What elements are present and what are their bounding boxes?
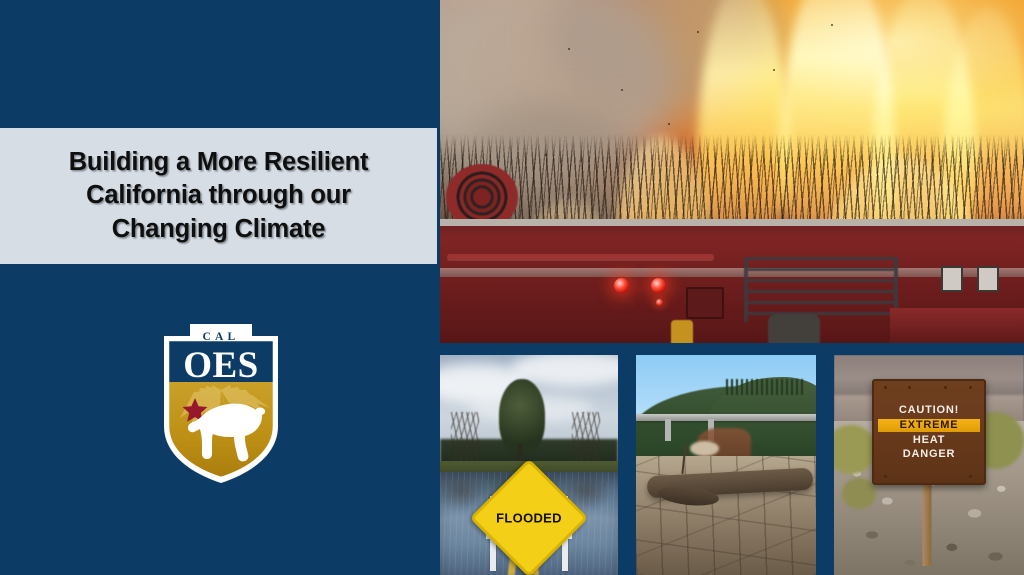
sign-line-heat: HEAT [913,435,945,446]
engine-ladder [744,257,898,322]
flood-photo: FLOODED [440,355,618,575]
title-banner: Building a More ResilientCalifornia thro… [0,128,437,264]
sign-bolt [944,386,947,389]
heat-danger-sign: CAUTION! EXTREME HEAT DANGER [872,379,986,485]
engine-rail [447,254,714,260]
sign-bolt [969,386,972,389]
dry-patch [690,441,719,456]
logo-oes-text: OES [183,345,259,386]
sign-line-caution: CAUTION! [899,405,959,416]
engine-stripe [440,268,1024,277]
road-barricade: FLOODED [486,496,571,571]
title-line-1: Building a More Resilient [69,148,369,176]
logo-cal-text: CAL [203,331,240,343]
bridge [636,414,816,421]
drought-photo [636,355,816,575]
engine-cab [890,308,1024,343]
engine-warning-light [614,278,629,293]
left-navy-panel: Building a More ResilientCalifornia thro… [0,0,440,575]
engine-valve [768,314,820,343]
wildfire-photo [440,0,1024,343]
sign-line-danger: DANGER [903,449,955,460]
sign-bolt [908,386,911,389]
sign-bolt [969,475,972,478]
bare-tree [451,412,479,460]
desert-brush [842,478,876,509]
sign-bolt [884,386,887,389]
bridge-pier [665,419,671,441]
sign-line-extreme: EXTREME [878,419,979,432]
presentation-slide: FLOODED [0,0,1024,575]
engine-equipment [671,320,693,343]
sign-bolt [884,475,887,478]
bare-tree [572,412,600,460]
cal-oes-shield-icon: CAL OES [160,322,282,484]
ridge-trees [726,379,805,394]
extreme-heat-photo: CAUTION! EXTREME HEAT DANGER [834,355,1024,575]
ember-spark [697,31,699,33]
flooded-sign-label: FLOODED [496,511,562,526]
fire-engine [440,219,1024,343]
page-title: Building a More ResilientCalifornia thro… [51,146,387,245]
title-line-2: California through our [86,181,351,209]
engine-warning-light [651,278,666,293]
engine-window [941,266,963,292]
ember-spark [773,69,775,71]
cal-oes-logo: CAL OES [160,322,282,484]
engine-window [977,266,999,292]
engine-compartment [686,287,724,319]
engine-marker-light [656,299,663,306]
title-line-3: Changing Climate [112,215,326,243]
